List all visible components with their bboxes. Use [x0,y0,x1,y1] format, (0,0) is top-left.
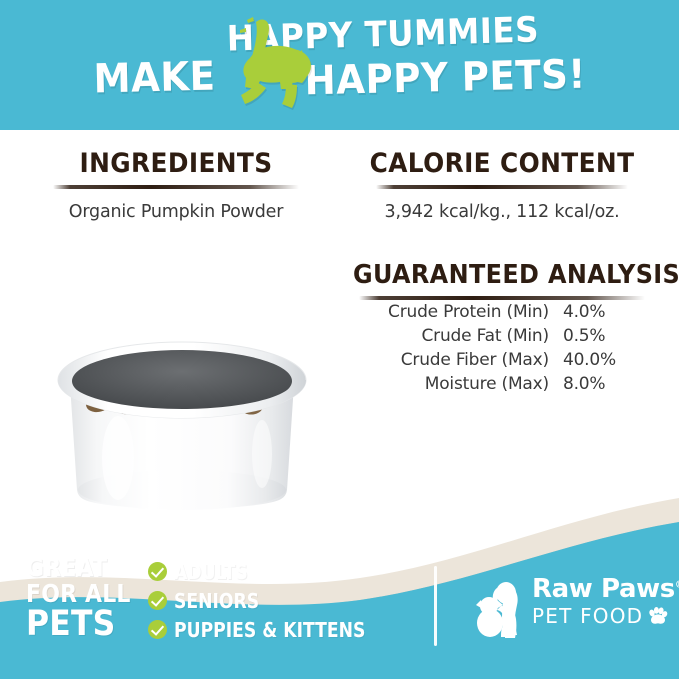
guaranteed-analysis-section: GUARANTEED ANALYSIS Crude Protein (Min) … [340,260,664,396]
table-row: Crude Fat (Min) 0.5% [388,324,616,348]
calorie-content-divider [376,185,629,189]
headline-line-2: MAKEHAPPY PETS! [0,58,679,98]
brand-name-line: Raw Paws® [532,576,660,602]
header-text-group: HAPPY TUMMIES MAKEHAPPY PETS! [0,0,679,120]
ingredients-section: INGREDIENTS Organic Pumpkin Powder [18,148,334,222]
audience-check-list: ADULTS SENIORS PUPPIES & KITTENS [148,559,393,646]
registered-mark: ® [675,579,679,590]
ga-value: 8.0% [563,372,616,396]
headline-line-1: HAPPY TUMMIES [0,18,679,53]
calorie-content-section: CALORIE CONTENT 3,942 kcal/kg., 112 kcal… [340,148,664,222]
brand-logo: Raw Paws® PET FOOD [470,576,660,644]
list-item: PUPPIES & KITTENS [148,617,393,642]
ga-label: Crude Fiber (Max) [388,348,563,372]
ga-value: 4.0% [563,300,616,324]
headline-happy-pets: HAPPY PETS! [304,55,586,102]
table-row: Moisture (Max) 8.0% [388,372,616,396]
brand-tagline-line: PET FOOD [532,606,660,626]
list-item: SENIORS [148,588,393,613]
brand-name: Raw Paws [532,574,675,604]
table-row: Crude Protein (Min) 4.0% [388,300,616,324]
ga-value: 0.5% [563,324,616,348]
table-row: Crude Fiber (Max) 40.0% [388,348,616,372]
brand-tagline: PET FOOD [532,606,643,626]
calorie-content-body: 3,942 kcal/kg., 112 kcal/oz. [340,202,664,222]
ingredients-divider [53,185,299,189]
ingredients-title: INGREDIENTS [31,148,322,179]
ga-value: 40.0% [563,348,616,372]
check-label: ADULTS [174,560,248,584]
great-line-1: GREAT [26,556,142,580]
calorie-content-title: CALORIE CONTENT [353,148,651,179]
ga-label: Crude Fat (Min) [388,324,563,348]
guaranteed-analysis-table: Crude Protein (Min) 4.0% Crude Fat (Min)… [388,300,616,396]
header-banner: HAPPY TUMMIES MAKEHAPPY PETS! [0,0,679,140]
brand-logo-text: Raw Paws® PET FOOD [532,576,660,626]
dog-and-cat-icon [470,578,532,638]
check-circle-icon [148,562,167,581]
great-for-all-pets-block: GREAT FOR ALL PETS [26,556,158,641]
list-item: ADULTS [148,559,393,584]
footer-vertical-divider [434,566,437,646]
cat-silhouette-icon [216,14,322,110]
check-label: SENIORS [174,589,259,613]
infographic-canvas: HAPPY TUMMIES MAKEHAPPY PETS! [0,0,679,679]
check-circle-icon [148,620,167,639]
paw-print-icon [648,607,668,625]
check-circle-icon [148,591,167,610]
ga-label: Crude Protein (Min) [388,300,563,324]
ingredients-body: Organic Pumpkin Powder [18,202,334,222]
footer-content: GREAT FOR ALL PETS ADULTS SENIORS PUPPIE… [0,548,679,679]
nutrition-column: CALORIE CONTENT 3,942 kcal/kg., 112 kcal… [340,148,664,396]
headline-make: MAKE [93,57,216,100]
check-label: PUPPIES & KITTENS [174,618,365,642]
ga-label: Moisture (Max) [388,372,563,396]
great-line-3: PETS [26,608,145,642]
guaranteed-analysis-title: GUARANTEED ANALYSIS [353,260,651,290]
